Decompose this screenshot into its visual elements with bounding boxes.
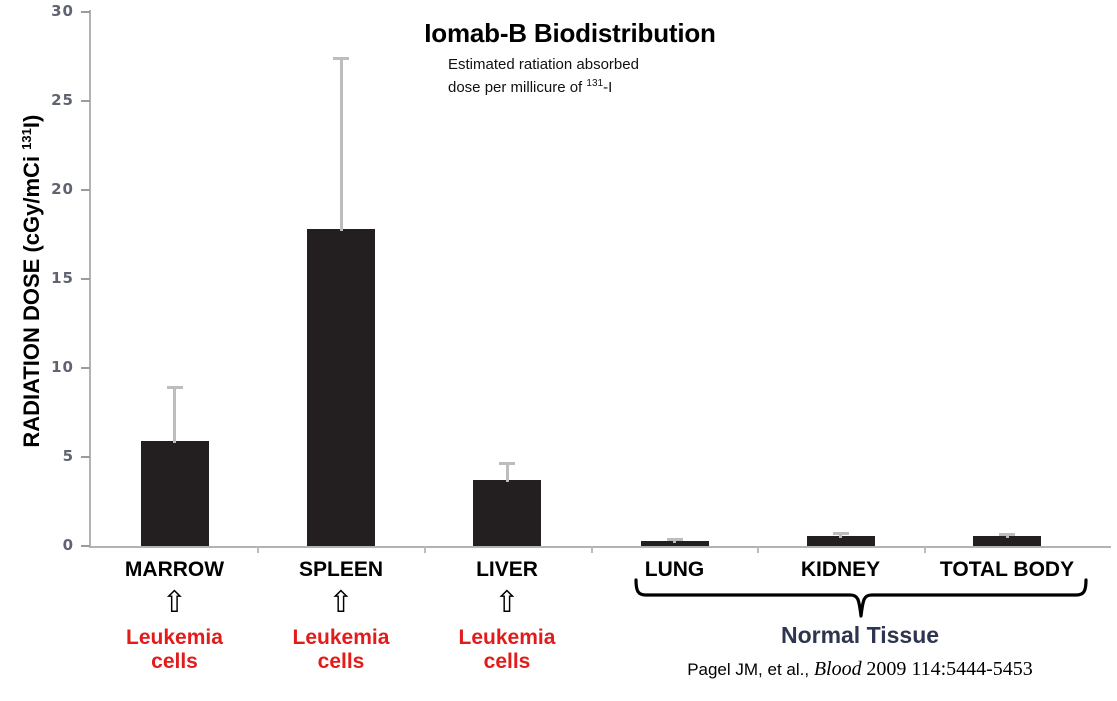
- x-tick-mark: [424, 547, 426, 553]
- leukemia-annotation-line2: cells: [407, 650, 607, 674]
- y-tick-label: 5: [14, 447, 74, 465]
- y-tick-label: 20: [14, 180, 74, 198]
- x-tick-mark: [757, 547, 759, 553]
- normal-tissue-brace: [628, 578, 1094, 618]
- bar-liver: [473, 480, 541, 546]
- y-tick-mark: [81, 456, 90, 458]
- up-arrow-icon: ⇧: [467, 588, 547, 618]
- error-cap: [333, 57, 349, 60]
- error-cap: [667, 538, 683, 541]
- bar-spleen: [307, 229, 375, 546]
- chart-subtitle-line1: Estimated ratiation absorbed: [448, 56, 639, 73]
- error-bar-marrow: [173, 386, 176, 443]
- y-tick-mark: [81, 189, 90, 191]
- error-cap: [833, 532, 849, 535]
- bar-marrow: [141, 441, 209, 546]
- y-tick-label: 15: [14, 269, 74, 287]
- brace-icon: [628, 578, 1094, 618]
- y-tick-label: 25: [14, 91, 74, 109]
- y-axis-label-isotope: 131: [19, 128, 34, 150]
- citation: Pagel JM, et al., Blood 2009 114:5444-54…: [610, 658, 1110, 681]
- chart-subtitle-line2-post: -I: [603, 79, 612, 96]
- error-cap: [499, 462, 515, 465]
- x-tick-mark: [591, 547, 593, 553]
- citation-author: Pagel JM, et al.,: [687, 660, 809, 679]
- y-axis-label-unit-post: I): [19, 115, 44, 128]
- error-cap: [167, 386, 183, 389]
- x-tick-mark: [257, 547, 259, 553]
- x-tick-mark: [924, 547, 926, 553]
- error-bar-spleen: [340, 57, 343, 232]
- y-axis-label-unit-pre: (cGy/mCi: [19, 150, 44, 259]
- y-tick-mark: [81, 545, 90, 547]
- y-tick-label: 0: [14, 536, 74, 554]
- error-cap: [999, 533, 1015, 536]
- chart-title: Iomab-B Biodistribution: [330, 18, 810, 49]
- chart-subtitle: Estimated ratiation absorbed dose per mi…: [448, 55, 778, 97]
- y-tick-mark: [81, 367, 90, 369]
- citation-volume: 2009 114:5444-5453: [866, 658, 1032, 680]
- citation-journal: Blood: [814, 658, 862, 680]
- x-axis-line: [89, 546, 1111, 548]
- leukemia-annotation-line1: Leukemia: [407, 626, 607, 650]
- chart-subtitle-isotope: 131: [586, 78, 603, 89]
- y-tick-mark: [81, 11, 90, 13]
- up-arrow-icon: ⇧: [135, 588, 215, 618]
- chart-figure: Iomab-B Biodistribution Estimated ratiat…: [0, 0, 1117, 701]
- y-tick-label: 30: [14, 2, 74, 20]
- leukemia-cells-annotation: Leukemiacells: [407, 626, 607, 674]
- up-arrow-icon: ⇧: [301, 588, 381, 618]
- y-tick-mark: [81, 100, 90, 102]
- chart-subtitle-line2-pre: dose per millicure of: [448, 79, 586, 96]
- y-tick-label: 10: [14, 358, 74, 376]
- normal-tissue-label: Normal Tissue: [660, 622, 1060, 649]
- y-tick-mark: [81, 278, 90, 280]
